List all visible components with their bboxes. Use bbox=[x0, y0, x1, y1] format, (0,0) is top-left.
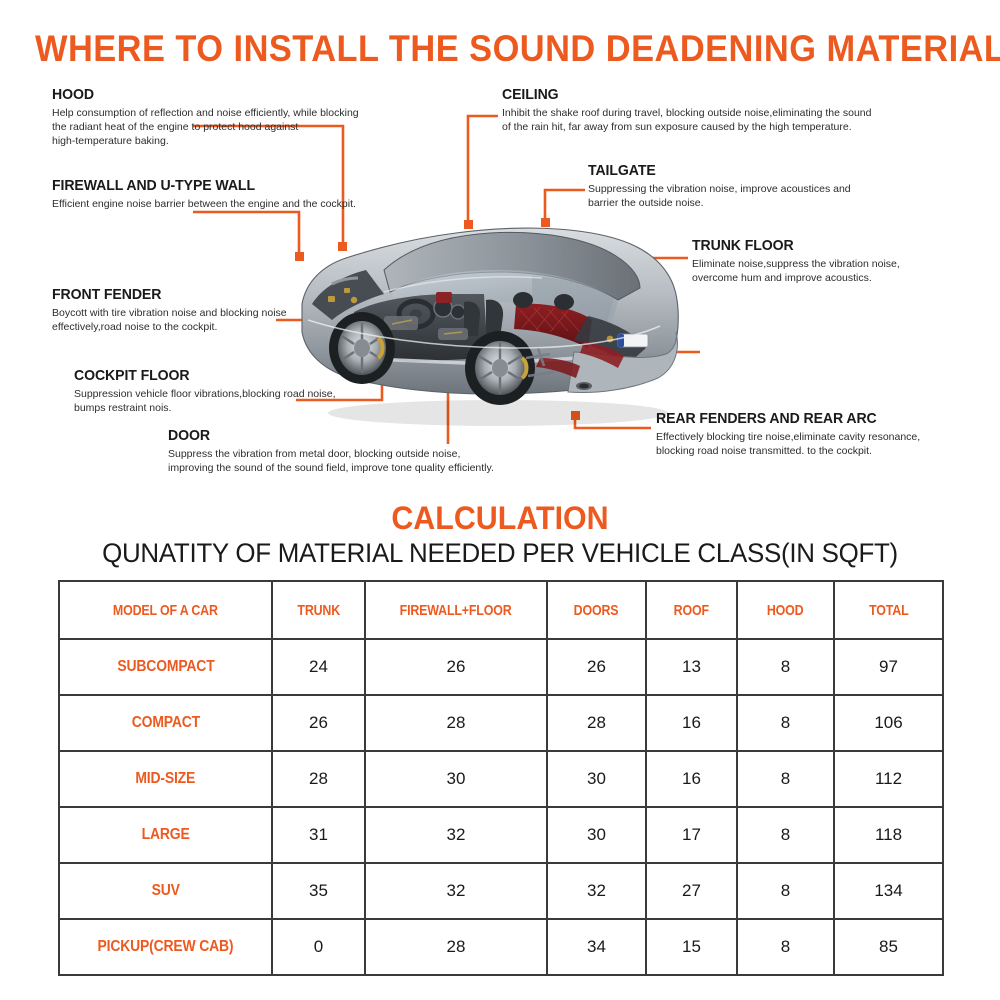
cell-total: 97 bbox=[834, 639, 943, 695]
callout-front-fender: FRONT FENDER Boycott with tire vibration… bbox=[52, 286, 352, 334]
cell-model-label: LARGE bbox=[142, 826, 190, 844]
callout-tailgate-body: Suppressing the vibration noise, improve… bbox=[588, 182, 948, 210]
callout-ceiling: CEILING Inhibit the shake roof during tr… bbox=[502, 86, 952, 134]
callout-hood: HOOD Help consumption of reflection and … bbox=[52, 86, 402, 149]
cell-firewall-floor: 28 bbox=[365, 919, 547, 975]
cell-doors: 30 bbox=[547, 807, 646, 863]
cell-doors: 28 bbox=[547, 695, 646, 751]
cell-hood: 8 bbox=[737, 751, 834, 807]
cell-total: 106 bbox=[834, 695, 943, 751]
cell-trunk: 28 bbox=[272, 751, 365, 807]
cell-trunk: 24 bbox=[272, 639, 365, 695]
calculation-title: CALCULATION bbox=[25, 500, 975, 537]
cell-model: SUBCOMPACT bbox=[59, 639, 272, 695]
column-header-trunk: TRUNK bbox=[276, 581, 362, 639]
callout-door-body: Suppress the vibration from metal door, … bbox=[168, 447, 548, 475]
cell-firewall-floor: 26 bbox=[365, 639, 547, 695]
table-row: LARGE313230178118 bbox=[59, 807, 943, 863]
cell-roof: 17 bbox=[646, 807, 737, 863]
callout-cockpit-floor-title: COCKPIT FLOOR bbox=[74, 367, 356, 384]
cell-model: LARGE bbox=[59, 807, 272, 863]
table-row: COMPACT262828168106 bbox=[59, 695, 943, 751]
callout-trunk-floor-body: Eliminate noise,suppress the vibration n… bbox=[692, 257, 972, 285]
callout-tailgate-title: TAILGATE bbox=[588, 162, 926, 179]
page-title: WHERE TO INSTALL THE SOUND DEADENING MAT… bbox=[35, 28, 965, 70]
cell-roof: 16 bbox=[646, 751, 737, 807]
cell-roof: 15 bbox=[646, 919, 737, 975]
table-row: SUV353232278134 bbox=[59, 863, 943, 919]
cell-hood: 8 bbox=[737, 863, 834, 919]
cell-model: SUV bbox=[59, 863, 272, 919]
cell-firewall-floor: 30 bbox=[365, 751, 547, 807]
cell-model: COMPACT bbox=[59, 695, 272, 751]
callout-hood-title: HOOD bbox=[52, 86, 381, 103]
cell-trunk: 26 bbox=[272, 695, 365, 751]
cell-doors: 26 bbox=[547, 639, 646, 695]
cell-model-label: SUBCOMPACT bbox=[117, 658, 214, 676]
column-header-hood: HOOD bbox=[741, 581, 830, 639]
callout-firewall: FIREWALL AND U-TYPE WALL Efficient engin… bbox=[52, 177, 412, 211]
callout-door-title: DOOR bbox=[168, 427, 525, 444]
cell-roof: 27 bbox=[646, 863, 737, 919]
cell-total: 112 bbox=[834, 751, 943, 807]
callout-trunk-floor: TRUNK FLOOR Eliminate noise,suppress the… bbox=[692, 237, 972, 285]
column-header-doors: DOORS bbox=[551, 581, 642, 639]
callout-firewall-title: FIREWALL AND U-TYPE WALL bbox=[52, 177, 390, 194]
callout-rear-fenders-body: Effectively blocking tire noise,eliminat… bbox=[656, 430, 966, 458]
cell-roof: 16 bbox=[646, 695, 737, 751]
callout-rear-fenders-title: REAR FENDERS AND REAR ARC bbox=[656, 410, 947, 427]
cell-trunk: 31 bbox=[272, 807, 365, 863]
column-header-firewall-floor: FIREWALL+FLOOR bbox=[372, 581, 539, 639]
table-header-row: MODEL OF A CAR TRUNK FIREWALL+FLOOR DOOR… bbox=[59, 581, 943, 639]
callout-cockpit-floor: COCKPIT FLOOR Suppression vehicle floor … bbox=[74, 367, 374, 415]
cell-hood: 8 bbox=[737, 807, 834, 863]
cell-doors: 30 bbox=[547, 751, 646, 807]
callout-rear-fenders: REAR FENDERS AND REAR ARC Effectively bl… bbox=[656, 410, 966, 458]
callout-front-fender-body: Boycott with tire vibration noise and bl… bbox=[52, 306, 352, 334]
cell-model-label: PICKUP(CREW CAB) bbox=[98, 938, 234, 956]
cell-hood: 8 bbox=[737, 639, 834, 695]
cell-firewall-floor: 28 bbox=[365, 695, 547, 751]
table-row: SUBCOMPACT24262613897 bbox=[59, 639, 943, 695]
callout-front-fender-title: FRONT FENDER bbox=[52, 286, 334, 303]
cell-model-label: COMPACT bbox=[131, 714, 199, 732]
cell-roof: 13 bbox=[646, 639, 737, 695]
calculation-subtitle: QUNATITY OF MATERIAL NEEDED PER VEHICLE … bbox=[20, 538, 980, 569]
cell-total: 118 bbox=[834, 807, 943, 863]
column-header-model: MODEL OF A CAR bbox=[68, 581, 264, 639]
callout-door: DOOR Suppress the vibration from metal d… bbox=[168, 427, 548, 475]
column-header-roof: ROOF bbox=[650, 581, 734, 639]
callout-ceiling-title: CEILING bbox=[502, 86, 925, 103]
cell-hood: 8 bbox=[737, 695, 834, 751]
cell-model: PICKUP(CREW CAB) bbox=[59, 919, 272, 975]
column-header-total: TOTAL bbox=[838, 581, 938, 639]
cell-model: MID-SIZE bbox=[59, 751, 272, 807]
callout-hood-body: Help consumption of reflection and noise… bbox=[52, 106, 402, 149]
material-quantity-table: MODEL OF A CAR TRUNK FIREWALL+FLOOR DOOR… bbox=[58, 580, 944, 976]
callout-trunk-floor-title: TRUNK FLOOR bbox=[692, 237, 955, 254]
callout-ceiling-body: Inhibit the shake roof during travel, bl… bbox=[502, 106, 952, 134]
cell-model-label: SUV bbox=[151, 882, 179, 900]
cell-total: 134 bbox=[834, 863, 943, 919]
cell-trunk: 0 bbox=[272, 919, 365, 975]
callout-cockpit-floor-body: Suppression vehicle floor vibrations,blo… bbox=[74, 387, 374, 415]
cell-hood: 8 bbox=[737, 919, 834, 975]
cell-model-label: MID-SIZE bbox=[136, 770, 196, 788]
callout-firewall-body: Efficient engine noise barrier between t… bbox=[52, 197, 412, 211]
cell-doors: 34 bbox=[547, 919, 646, 975]
cell-doors: 32 bbox=[547, 863, 646, 919]
cell-trunk: 35 bbox=[272, 863, 365, 919]
cell-firewall-floor: 32 bbox=[365, 807, 547, 863]
callout-tailgate: TAILGATE Suppressing the vibration noise… bbox=[588, 162, 948, 210]
cell-firewall-floor: 32 bbox=[365, 863, 547, 919]
table-row: PICKUP(CREW CAB)0283415885 bbox=[59, 919, 943, 975]
cell-total: 85 bbox=[834, 919, 943, 975]
table-row: MID-SIZE283030168112 bbox=[59, 751, 943, 807]
